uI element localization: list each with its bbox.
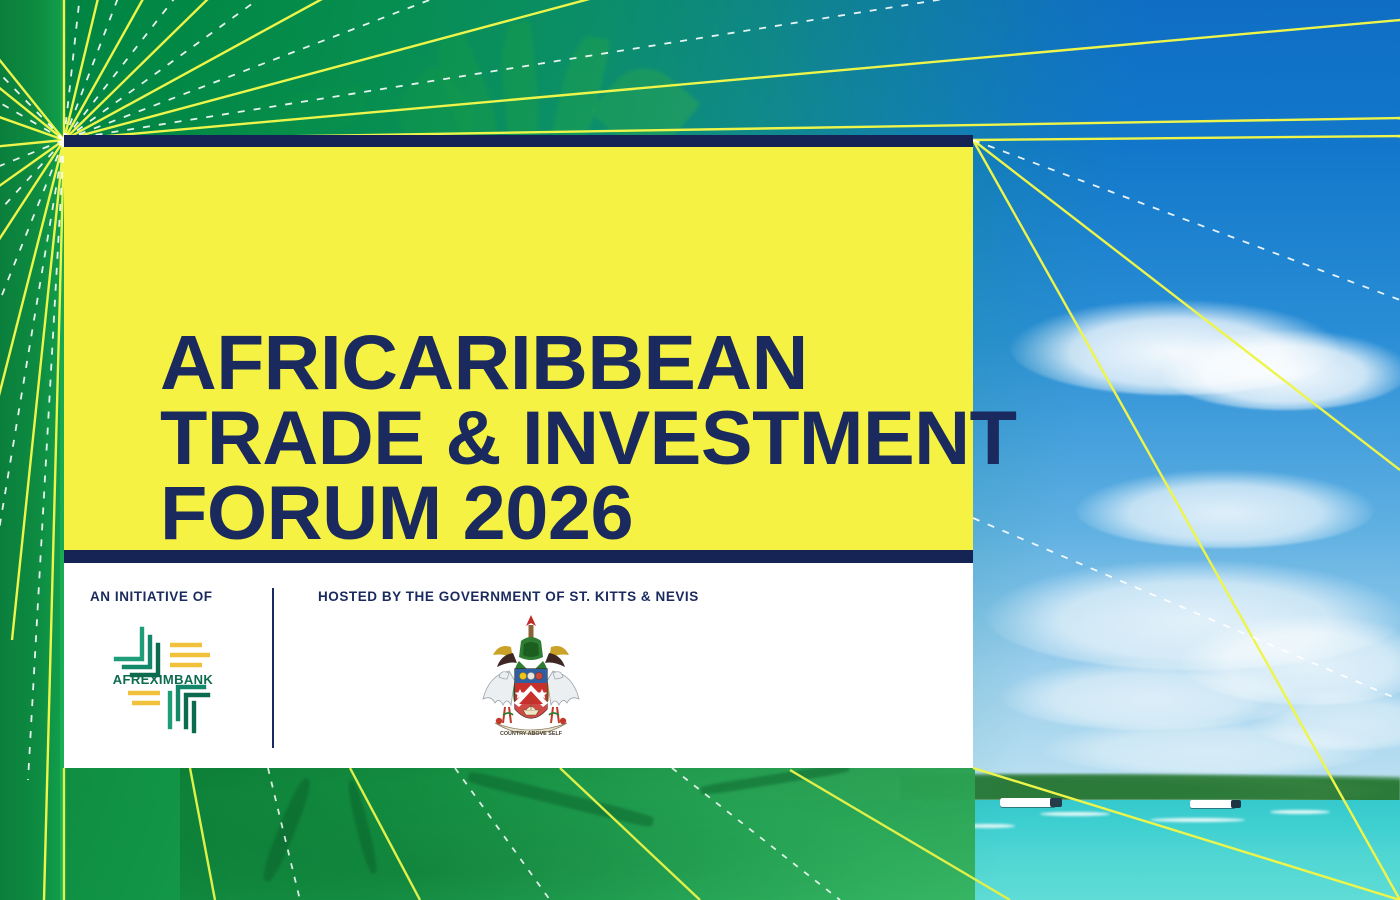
afreximbank-logo: AFREXIMBANK <box>98 615 228 743</box>
initiative-kicker-label: AN INITIATIVE OF <box>90 589 213 604</box>
panel-divider <box>272 588 274 748</box>
green-left-strip <box>0 0 64 900</box>
title-panel: AFRICARIBBEAN TRADE & INVESTMENT FORUM 2… <box>64 147 973 550</box>
partner-panel: AN INITIATIVE OF <box>64 563 973 768</box>
title-panel-bottom-rule <box>64 550 973 563</box>
st-kitts-nevis-coat-of-arms: COUNTRY ABOVE SELF <box>469 611 593 751</box>
title-panel-top-rule <box>64 135 973 147</box>
afreximbank-wordmark: AFREXIMBANK <box>98 672 228 687</box>
crest-motto: COUNTRY ABOVE SELF <box>500 731 563 737</box>
poster-canvas: AFRICARIBBEAN TRADE & INVESTMENT FORUM 2… <box>0 0 1400 900</box>
title-line-3: FORUM 2026 <box>160 476 1037 551</box>
host-kicker-label: HOSTED BY THE GOVERNMENT OF ST. KITTS & … <box>318 589 699 604</box>
page-title: AFRICARIBBEAN TRADE & INVESTMENT FORUM 2… <box>160 325 1037 552</box>
title-line-2: TRADE & INVESTMENT <box>160 401 1037 476</box>
title-line-1: AFRICARIBBEAN <box>160 325 1037 401</box>
st-kitts-nevis-coat-of-arms-icon: COUNTRY ABOVE SELF <box>469 611 593 751</box>
